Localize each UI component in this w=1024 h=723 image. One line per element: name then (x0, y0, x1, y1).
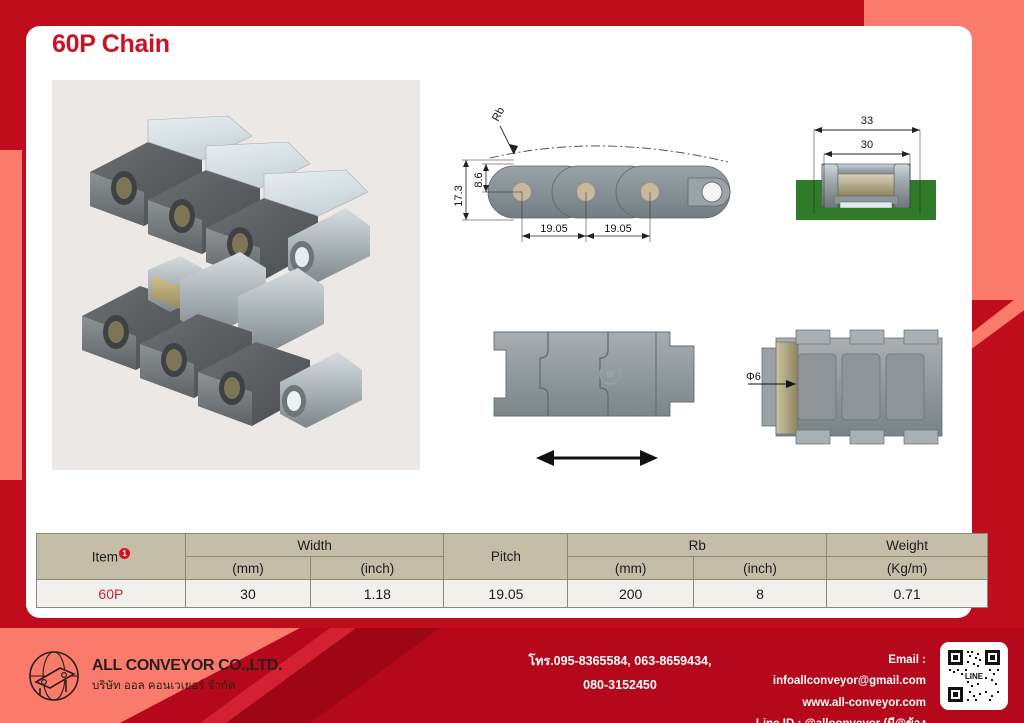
dim-pitch-2: 19.05 (604, 223, 632, 235)
phone-line-1: โทร.095-8365584, 063-8659434, (500, 650, 740, 674)
header-pitch: Pitch (444, 534, 568, 580)
dim-inner-width: 30 (861, 139, 873, 151)
cell-rb-inch: 8 (693, 580, 826, 608)
company-name-en: ALL CONVEYOR CO.,LTD. (92, 657, 282, 675)
drawing-cross-section: 33 30 (770, 96, 960, 256)
drawing-bottom-view: Φ6 (730, 320, 965, 470)
dim-height-pin: 8.6 (473, 172, 485, 187)
cell-width-inch: 1.18 (311, 580, 444, 608)
cell-pitch: 19.05 (444, 580, 568, 608)
underside-body (762, 330, 942, 444)
dim-outer-width: 33 (861, 115, 873, 127)
qr-line-label: LINE (965, 672, 984, 681)
table-row: 60P 30 1.18 19.05 200 8 0.71 (37, 580, 988, 608)
dim-pin-diameter: Φ6 (746, 371, 761, 383)
header-item-label: Item (92, 550, 118, 565)
item-badge: 1 (119, 548, 130, 559)
drawing-side-view: Rb 17.3 8.6 (452, 96, 742, 256)
travel-direction-arrow (536, 450, 658, 466)
footer-contact-block: Email : infoallconveyor@gmail.com www.al… (736, 650, 926, 723)
decor-left-salmon-band (0, 150, 22, 480)
contact-line-id[interactable]: Line ID : @alloonveyor (มี@ข้างหน้า) (736, 714, 926, 723)
footer-phone-block: โทร.095-8365584, 063-8659434, 080-315245… (500, 650, 740, 698)
cell-item: 60P (37, 580, 186, 608)
product-image-panel (52, 80, 420, 470)
header-width-inch: (inch) (311, 557, 444, 580)
header-item: Item1 (37, 534, 186, 580)
header-weight-unit: (Kg/m) (827, 557, 988, 580)
header-rb-inch: (inch) (693, 557, 826, 580)
header-rb-mm: (mm) (568, 557, 693, 580)
header-width-mm: (mm) (185, 557, 310, 580)
page-footer: ALL CONVEYOR CO.,LTD. บริษัท ออล คอนเวเย… (0, 628, 1024, 723)
pin-cylinder (776, 342, 798, 434)
drawing-top-view (470, 310, 730, 485)
dim-height-total: 17.3 (453, 185, 465, 206)
qr-code-icon: LINE (945, 647, 1003, 705)
header-weight: Weight (827, 534, 988, 557)
cell-weight: 0.71 (827, 580, 988, 608)
table-header-group-row: Item1 Width Pitch Rb Weight (37, 534, 988, 557)
plate-outline (494, 332, 694, 416)
company-name-th: บริษัท ออล คอนเวเยอร์ จำกัด (92, 677, 282, 695)
company-logo: ALL CONVEYOR CO.,LTD. บริษัท ออล คอนเวเย… (26, 648, 282, 704)
contact-email[interactable]: Email : infoallconveyor@gmail.com (736, 650, 926, 693)
conveyor-globe-icon (26, 648, 82, 704)
chain-3d-render (52, 80, 420, 470)
cell-width-mm: 30 (185, 580, 310, 608)
datasheet-page: 60P Chain (0, 0, 1024, 723)
header-rb: Rb (568, 534, 827, 557)
label-rb: Rb (490, 105, 507, 123)
phone-line-2: 080-3152450 (500, 674, 740, 698)
cell-rb-mm: 200 (568, 580, 693, 608)
link-shapes (488, 166, 730, 218)
dim-pitch-1: 19.05 (540, 223, 568, 235)
header-width: Width (185, 534, 444, 557)
line-qr-code[interactable]: LINE (940, 642, 1008, 710)
specifications-table: Item1 Width Pitch Rb Weight (mm) (inch) … (36, 533, 988, 608)
contact-website[interactable]: www.all-conveyor.com (736, 693, 926, 714)
page-title: 60P Chain (52, 30, 170, 59)
